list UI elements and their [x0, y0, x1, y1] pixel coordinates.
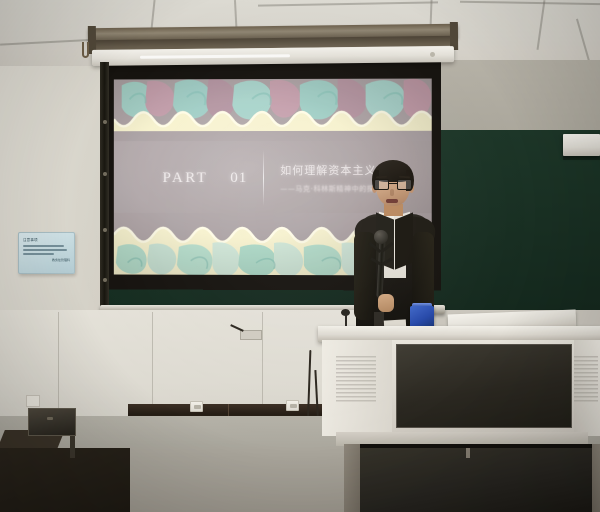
lens-right: [397, 179, 412, 190]
ceiling-panel-seam: [150, 0, 155, 30]
mouth: [386, 199, 398, 203]
equipment-cabinet: [360, 444, 592, 512]
lens-left: [374, 179, 389, 190]
plaque-text-line: [23, 249, 67, 251]
wall-switch-plate: [26, 395, 40, 407]
glasses-bridge: [389, 183, 397, 184]
screen-mount-hook: [82, 42, 89, 58]
screen-roller-endcap: [430, 52, 435, 57]
podium-speaker-grille: [574, 356, 598, 402]
power-outlet-icon: [190, 401, 203, 412]
lapel-right: [395, 212, 413, 269]
plaque-text-line: [23, 245, 64, 247]
ceiling-panel-seam: [537, 0, 546, 50]
ceiling-panel-seam: [460, 1, 600, 6]
plaque-footer: 教务处管理科: [23, 258, 70, 262]
plaque-title: 注意事项: [23, 237, 70, 242]
slide-top-ornament: [114, 79, 432, 142]
nose: [390, 189, 394, 196]
slide-part-label: PART: [163, 170, 209, 187]
electrical-panel-icon: [28, 408, 76, 436]
wall-seam: [58, 312, 59, 412]
slide-vertical-divider: [263, 150, 264, 206]
podium-front-panel: [396, 344, 572, 428]
podium-speaker-grille: [336, 356, 376, 402]
wall-bracket: [240, 330, 262, 340]
wall-speaker-icon: [563, 134, 600, 156]
classroom-photo: PART 01 如何理解资本主义 ——马克·科林斯精神中的探索: [0, 0, 600, 512]
right-wall-upper: [430, 60, 600, 140]
panel-vent: [47, 417, 53, 420]
ceiling-panel-seam: [576, 19, 590, 62]
frame-bolt: [103, 120, 107, 124]
hand: [378, 294, 394, 312]
frame-bolt: [103, 228, 107, 232]
wall-notice-plaque: 注意事项 教务处管理科: [18, 232, 75, 274]
panel-support-leg: [70, 436, 75, 458]
frame-bolt: [103, 278, 107, 282]
power-outlet-icon: [286, 400, 299, 411]
speaker-shadow: [563, 156, 600, 160]
plaque-text-line: [23, 253, 54, 255]
slide-part-number: 01: [230, 170, 247, 187]
microphone-capsule: [374, 230, 388, 244]
floral-pattern-icon: [114, 79, 432, 142]
frame-bolt: [103, 172, 107, 176]
ceiling-panel-seam: [258, 1, 438, 6]
floor-dark-area: [0, 448, 130, 512]
cabinet-handle: [466, 448, 470, 458]
